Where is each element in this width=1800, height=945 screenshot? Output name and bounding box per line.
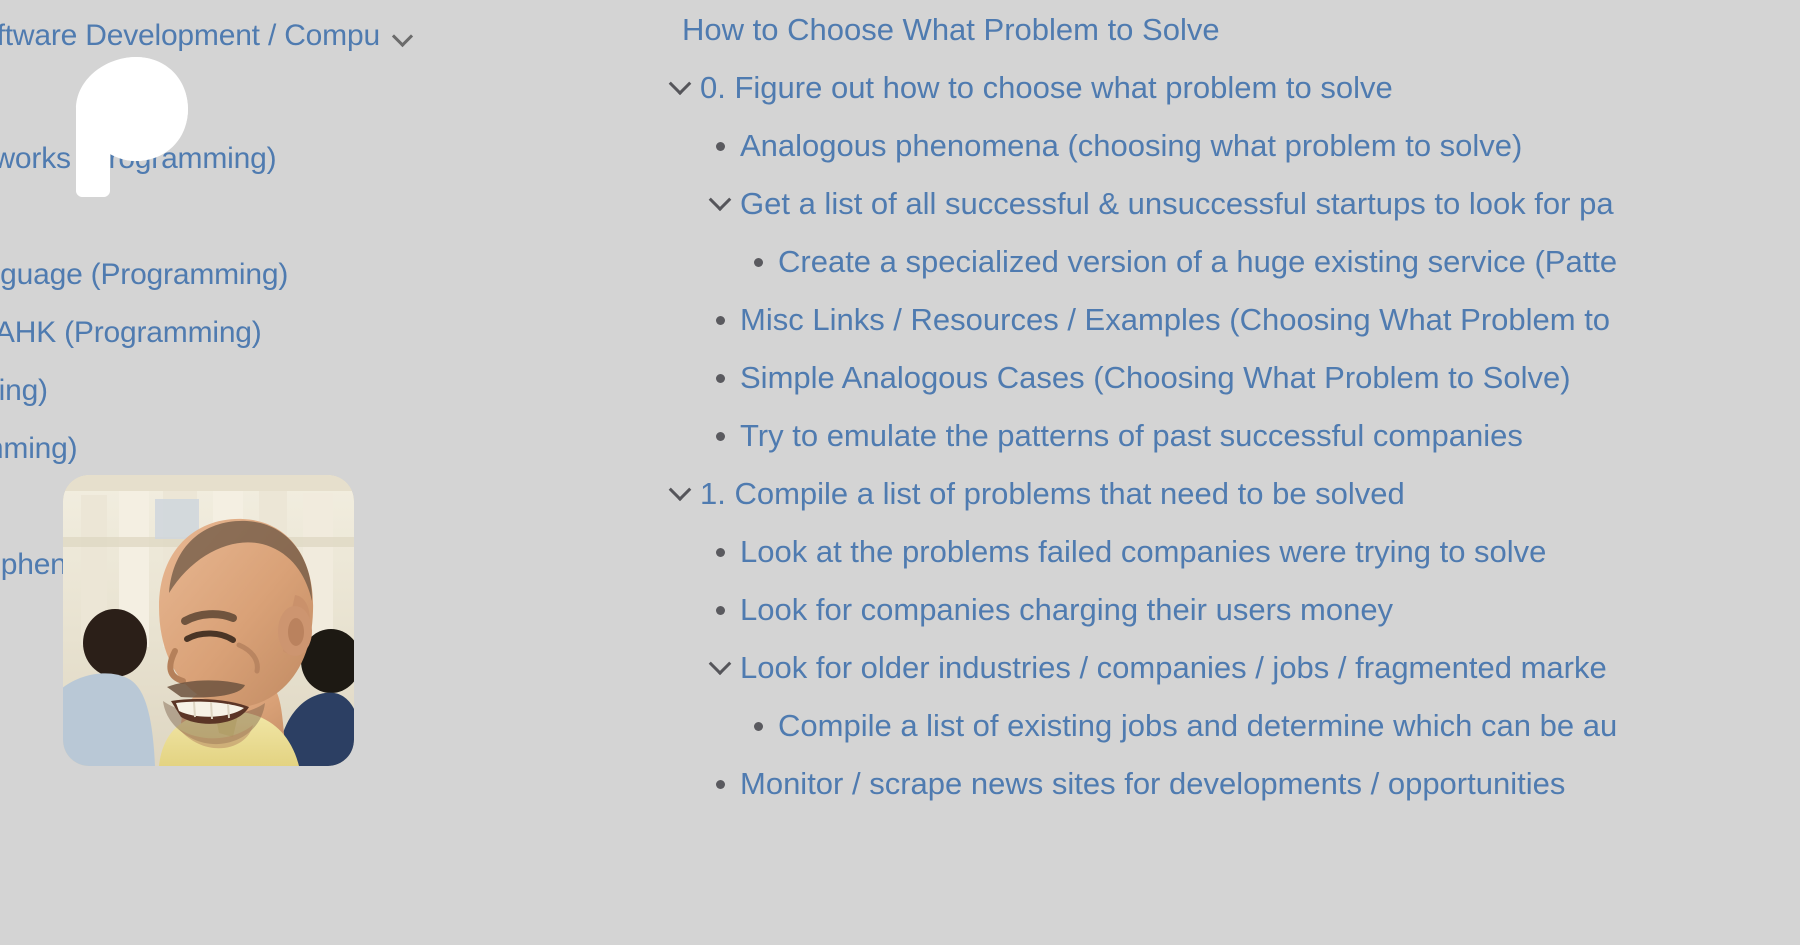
sidebar-item-label: Hotkey / AHK (Programming) <box>0 316 262 350</box>
outline-row[interactable]: Look at the problems failed companies we… <box>660 532 1800 572</box>
outline-panel: How to Choose What Problem to Solve 0. F… <box>660 0 1800 945</box>
sidebar-item[interactable]: ucture d <box>0 72 660 130</box>
sidebar-item[interactable]: mbly Language (Programming) <box>0 246 660 304</box>
sidebar-item[interactable]: ges / meworks (Programming) <box>0 130 660 188</box>
outline-row[interactable]: Create a specialized version of a huge e… <box>660 242 1800 282</box>
page-title: How to Choose What Problem to Solve <box>682 12 1220 48</box>
outline-row-label[interactable]: Try to emulate the patterns of past succ… <box>740 418 1523 454</box>
outline-row-label[interactable]: Misc Links / Resources / Examples (Choos… <box>740 302 1610 338</box>
sidebar-item[interactable]: rogramming) <box>0 362 660 420</box>
chevron-down-icon[interactable] <box>390 23 416 49</box>
outline-row-label[interactable]: Look at the problems failed companies we… <box>740 534 1546 570</box>
bullet-icon <box>738 706 778 746</box>
sidebar-item-label: mbly Language (Programming) <box>0 258 288 292</box>
outline-row-label[interactable]: 1. Compile a list of problems that need … <box>700 476 1405 512</box>
bullet-icon <box>700 416 740 456</box>
outline-row[interactable]: Look for companies charging their users … <box>660 590 1800 630</box>
chevron-down-icon[interactable] <box>700 184 740 224</box>
outline-row[interactable]: Analogous phenomena (choosing what probl… <box>660 126 1800 166</box>
outline-row[interactable]: Misc Links / Resources / Examples (Choos… <box>660 300 1800 340</box>
sidebar-item-label: rogramming) <box>0 374 48 408</box>
outline-row-label[interactable]: Look for companies charging their users … <box>740 592 1393 628</box>
outline-row-label[interactable]: Compile a list of existing jobs and dete… <box>778 708 1617 744</box>
outline-row-label[interactable]: Get a list of all successful & unsuccess… <box>740 186 1614 222</box>
sidebar-item-label: ges / meworks (Programming) <box>0 142 276 176</box>
sidebar-item[interactable]: (Programming) <box>0 420 660 478</box>
bullet-icon <box>700 764 740 804</box>
bullet-icon <box>700 532 740 572</box>
app-root: hing / Software Development / Compu uctu… <box>0 0 1800 945</box>
outline-row-label[interactable]: Look for older industries / companies / … <box>740 650 1607 686</box>
outline-row[interactable]: Try to emulate the patterns of past succ… <box>660 416 1800 456</box>
outline-row-label[interactable]: Create a specialized version of a huge e… <box>778 244 1617 280</box>
outline-row-label[interactable]: 0. Figure out how to choose what problem… <box>700 70 1393 106</box>
sidebar-item-label: (Programming) <box>0 432 77 466</box>
bullet-icon <box>700 358 740 398</box>
bullet-icon <box>700 590 740 630</box>
breadcrumb-label[interactable]: hing / Software Development / Compu <box>0 19 380 53</box>
chevron-down-icon[interactable] <box>660 474 700 514</box>
outline-row-label[interactable]: Analogous phenomena (choosing what probl… <box>740 128 1522 164</box>
outline-row[interactable]: 1. Compile a list of problems that need … <box>660 474 1800 514</box>
outline-row[interactable]: 0. Figure out how to choose what problem… <box>660 68 1800 108</box>
sidebar: hing / Software Development / Compu uctu… <box>0 0 660 945</box>
outline-row[interactable]: Monitor / scrape news sites for developm… <box>660 764 1800 804</box>
chevron-down-icon[interactable] <box>660 68 700 108</box>
sidebar-item[interactable]: Hotkey / AHK (Programming) <box>0 304 660 362</box>
outline-row[interactable]: Get a list of all successful & unsuccess… <box>660 184 1800 224</box>
outline-row-label[interactable]: Simple Analogous Cases (Choosing What Pr… <box>740 360 1571 396</box>
bullet-icon <box>700 300 740 340</box>
bullet-icon <box>700 126 740 166</box>
breadcrumb[interactable]: hing / Software Development / Compu <box>0 0 660 72</box>
avatar[interactable] <box>63 475 354 766</box>
outline-row[interactable]: Simple Analogous Cases (Choosing What Pr… <box>660 358 1800 398</box>
sidebar-item[interactable]: ular.js <box>0 188 660 246</box>
chevron-down-icon[interactable] <box>700 648 740 688</box>
outline-row-label[interactable]: Monitor / scrape news sites for developm… <box>740 766 1565 802</box>
outline-row[interactable]: Compile a list of existing jobs and dete… <box>660 706 1800 746</box>
outline-row[interactable]: Look for older industries / companies / … <box>660 648 1800 688</box>
bullet-icon <box>738 242 778 282</box>
